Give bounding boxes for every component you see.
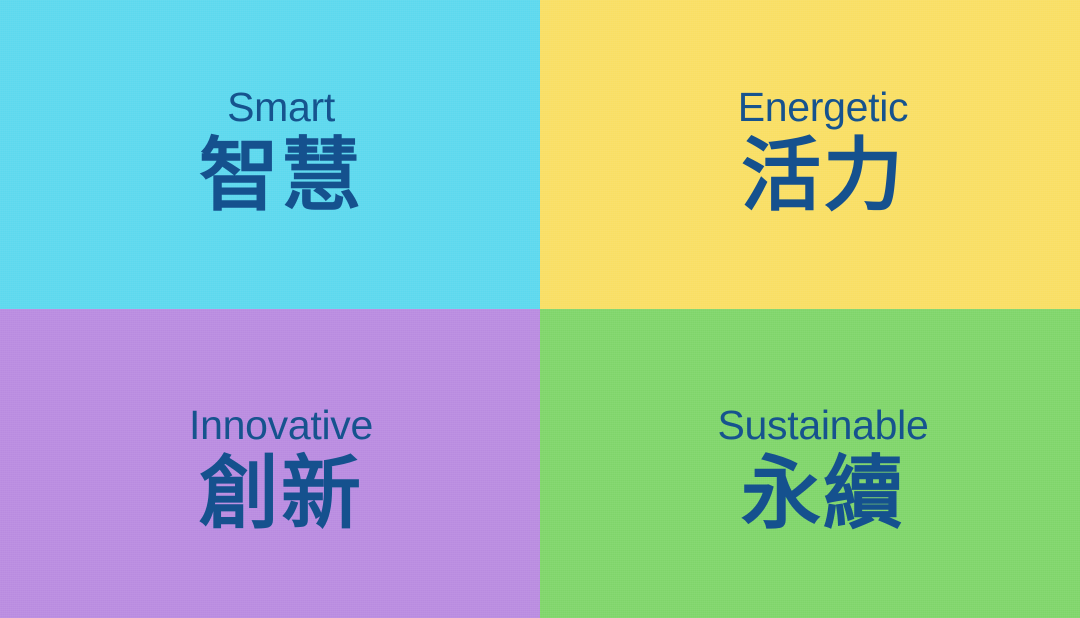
quadrant-smart-english-label: Smart — [0, 86, 540, 129]
value-quadrant-grid: Smart 智慧 Energetic 活力 Innovative 創新 Sust… — [0, 0, 1080, 618]
quadrant-smart-textblock: Smart 智慧 — [0, 86, 540, 219]
quadrant-energetic-textblock: Energetic 活力 — [540, 86, 1080, 219]
quadrant-innovative-chinese-label: 創新 — [0, 451, 540, 537]
quadrant-energetic-english-label: Energetic — [540, 86, 1080, 129]
quadrant-energetic-chinese-label: 活力 — [540, 133, 1080, 219]
quadrant-sustainable-chinese-label: 永續 — [540, 451, 1080, 537]
quadrant-energetic: Energetic 活力 — [540, 0, 1080, 309]
quadrant-smart: Smart 智慧 — [0, 0, 540, 309]
quadrant-sustainable: Sustainable 永續 — [540, 309, 1080, 618]
quadrant-innovative-textblock: Innovative 創新 — [0, 404, 540, 537]
quadrant-innovative-english-label: Innovative — [0, 404, 540, 447]
quadrant-smart-chinese-label: 智慧 — [0, 133, 540, 219]
quadrant-innovative: Innovative 創新 — [0, 309, 540, 618]
quadrant-sustainable-english-label: Sustainable — [540, 404, 1080, 447]
quadrant-sustainable-textblock: Sustainable 永續 — [540, 404, 1080, 537]
